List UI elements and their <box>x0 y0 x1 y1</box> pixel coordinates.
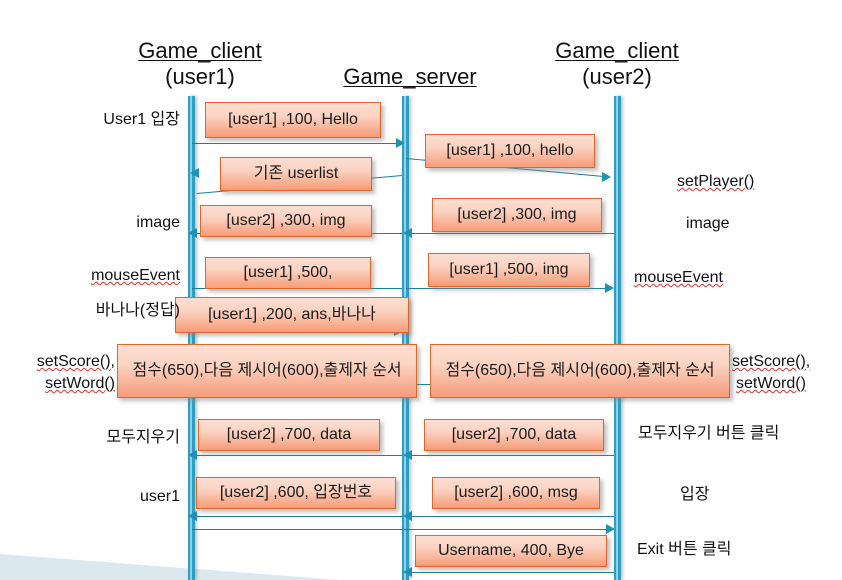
message-box-user2-700-data-server[interactable]: [user2] ,700, data <box>424 419 604 451</box>
message-box-score-right[interactable]: 점수(650),다음 제시어(600),출제자 순서 <box>430 344 730 398</box>
arrow-line-15 <box>410 572 614 573</box>
decorative-wedge <box>0 540 340 580</box>
arrow-line-10 <box>410 455 614 456</box>
message-box-user1-200-ans-banana[interactable]: [user1] ,200, ans,바나나 <box>175 297 409 333</box>
message-box-user1-500[interactable]: [user1] ,500, <box>205 257 371 289</box>
arrow-head-13 <box>188 511 197 521</box>
message-box-score-left[interactable]: 점수(650),다음 제시어(600),출제자 순서 <box>117 344 417 398</box>
arrow-line-13 <box>194 516 402 517</box>
arrow-line-1 <box>192 143 398 144</box>
arrow-head-1 <box>396 138 405 148</box>
message-box-user2-600-entry-number[interactable]: [user2] ,600, 입장번호 <box>196 477 396 509</box>
arrow-head-3 <box>190 168 199 178</box>
actor-header-game-client-user1: Game_client (user1) <box>110 38 290 90</box>
actor-header-game-client-user2: Game_client (user2) <box>527 38 707 90</box>
label-set-score-right: setScore(), <box>732 352 810 372</box>
message-box-user2-300-img-server[interactable]: [user2] ,300, img <box>432 198 602 232</box>
message-box-user2-600-msg[interactable]: [user2] ,600, msg <box>432 477 600 509</box>
arrow-head-5 <box>188 228 197 238</box>
message-box-existing-userlist[interactable]: 기존 userlist <box>220 157 372 191</box>
label-user1-enter: User1 입장 <box>20 110 180 130</box>
message-box-username-400-bye[interactable]: Username, 400, Bye <box>415 535 607 567</box>
message-box-user1-500-img[interactable]: [user1] ,500, img <box>428 253 590 287</box>
actor-name-right: Game_client <box>555 38 679 63</box>
label-set-word-left: setWord() <box>10 374 115 394</box>
arrow-head-11 <box>188 450 197 460</box>
label-mouse-event-right: mouseEvent <box>634 268 723 288</box>
lifeline-game-server <box>402 96 409 580</box>
label-clear-all-button-click: 모두지우기 버튼 클릭 <box>638 424 779 444</box>
arrow-head-14 <box>606 524 615 534</box>
arrow-line-12 <box>410 516 614 517</box>
label-exit-button-click: Exit 버튼 클릭 <box>637 540 731 560</box>
arrow-head-4 <box>403 228 412 238</box>
actor-sub-left: (user1) <box>110 64 290 90</box>
message-box-user1-100-hello-server[interactable]: [user1] ,100, hello <box>425 134 595 168</box>
label-enter-right: 입장 <box>680 485 709 505</box>
arrow-head-7 <box>605 283 614 293</box>
label-set-player: setPlayer() <box>677 172 754 192</box>
actor-sub-right: (user2) <box>527 64 707 90</box>
sequence-diagram-canvas: Game_client (user1) Game_server Game_cli… <box>0 0 842 580</box>
arrow-head-12 <box>403 511 412 521</box>
label-mouse-event-left: mouseEvent <box>20 266 180 286</box>
actor-name-left: Game_client <box>138 38 262 63</box>
arrow-line-11 <box>194 455 402 456</box>
arrow-head-10 <box>403 450 412 460</box>
arrow-line-4 <box>410 233 614 234</box>
label-banana-answer: 바나나(정답) <box>20 301 180 321</box>
label-clear-all-left: 모두지우기 <box>20 428 180 448</box>
arrow-head-2 <box>602 172 611 182</box>
lifeline-game-client-user2 <box>614 96 621 580</box>
arrow-head-15 <box>403 567 412 577</box>
label-image-right: image <box>686 214 730 234</box>
message-box-user2-300-img-client[interactable]: [user2] ,300, img <box>200 205 372 237</box>
message-box-user2-700-data-client[interactable]: [user2] ,700, data <box>198 419 380 451</box>
label-set-word-right: setWord() <box>736 374 806 394</box>
label-user1-left: user1 <box>20 487 180 507</box>
actor-header-game-server: Game_server <box>320 64 500 90</box>
message-box-user1-100-hello-client[interactable]: [user1] ,100, Hello <box>205 102 381 138</box>
label-set-score-left: setScore(), <box>10 352 115 372</box>
arrow-line-14 <box>192 529 614 530</box>
actor-name-middle: Game_server <box>343 64 476 89</box>
label-image-left: image <box>20 213 180 233</box>
arrow-line-7 <box>406 288 610 289</box>
